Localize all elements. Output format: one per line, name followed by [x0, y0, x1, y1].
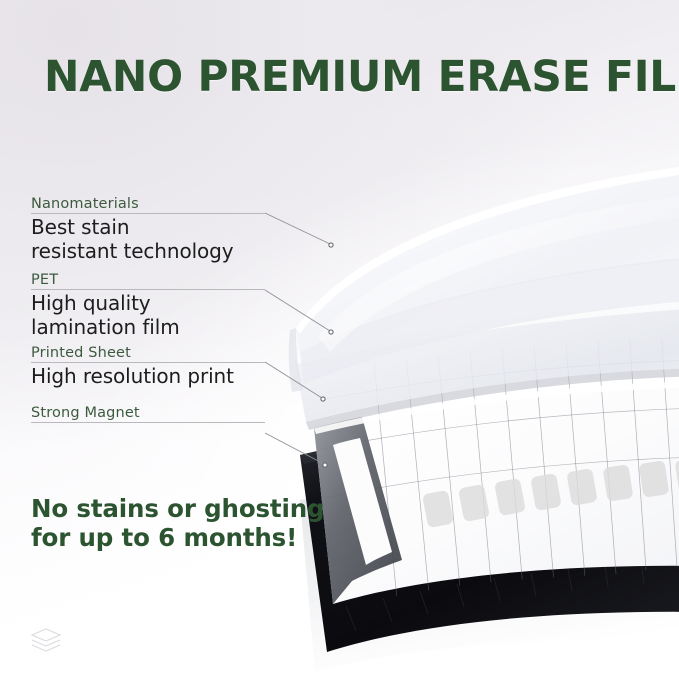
callout-rule — [31, 422, 265, 423]
product-infographic-poster: NANO PREMIUM ERASE FILM Nanomaterials Be… — [0, 0, 679, 679]
callout-rule — [31, 213, 265, 214]
callout-label: PET — [31, 272, 331, 289]
callout-label: Strong Magnet — [31, 405, 331, 422]
callout-description: Best stain resistant technology — [31, 216, 331, 263]
callout-rule — [31, 289, 265, 290]
callout-nanomaterials: Nanomaterials Best stain resistant techn… — [31, 196, 331, 263]
callout-strong-magnet: Strong Magnet — [31, 405, 331, 422]
tagline: No stains or ghosting for up to 6 months… — [31, 494, 361, 552]
callout-label: Nanomaterials — [31, 196, 331, 213]
layers-icon — [32, 629, 60, 651]
callout-rule — [31, 362, 265, 363]
stacked-layers-logo — [29, 625, 63, 655]
callout-list: Nanomaterials Best stain resistant techn… — [0, 0, 679, 679]
callout-pet: PET High quality lamination film — [31, 272, 331, 339]
callout-description: High resolution print — [31, 365, 331, 389]
callout-printed-sheet: Printed Sheet High resolution print — [31, 345, 331, 389]
callout-label: Printed Sheet — [31, 345, 331, 362]
callout-description: High quality lamination film — [31, 292, 331, 339]
